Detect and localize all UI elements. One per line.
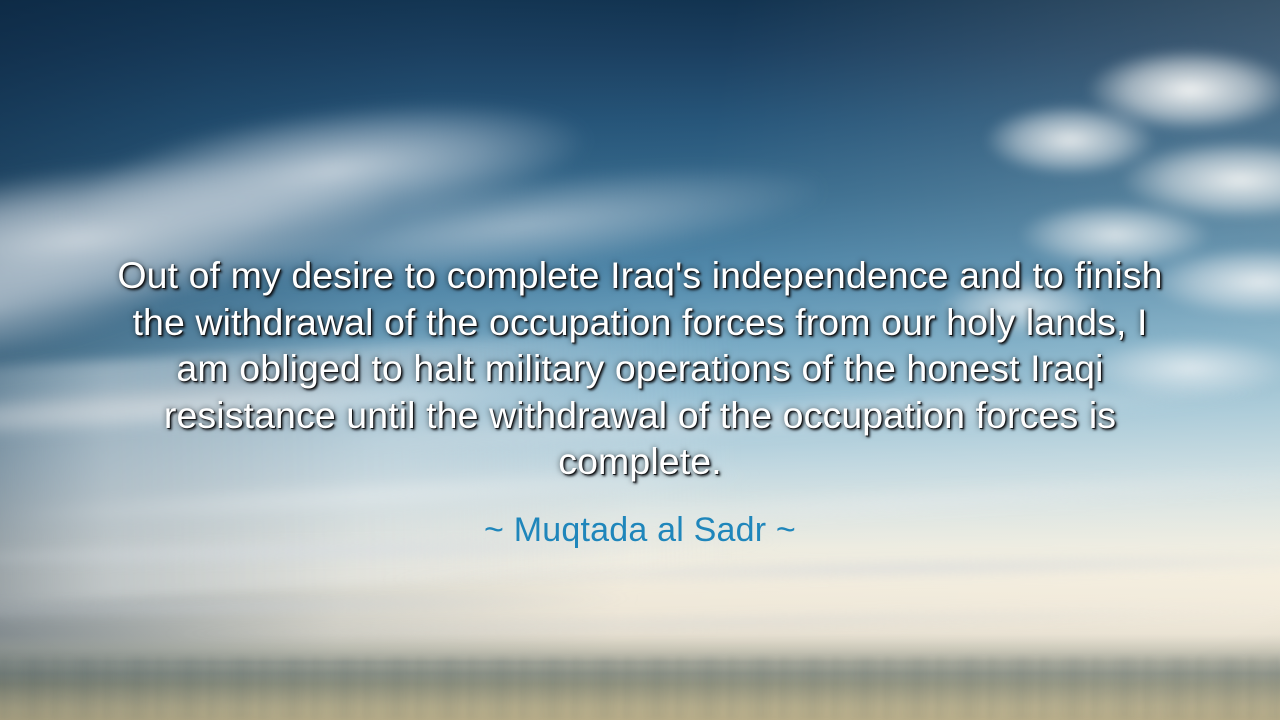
text-overlay: Out of my desire to complete Iraq's inde… [0, 0, 1280, 720]
quote-text: Out of my desire to complete Iraq's inde… [111, 252, 1169, 485]
quote-attribution: ~ Muqtada al Sadr ~ [484, 485, 796, 550]
quote-card: Out of my desire to complete Iraq's inde… [0, 0, 1280, 720]
